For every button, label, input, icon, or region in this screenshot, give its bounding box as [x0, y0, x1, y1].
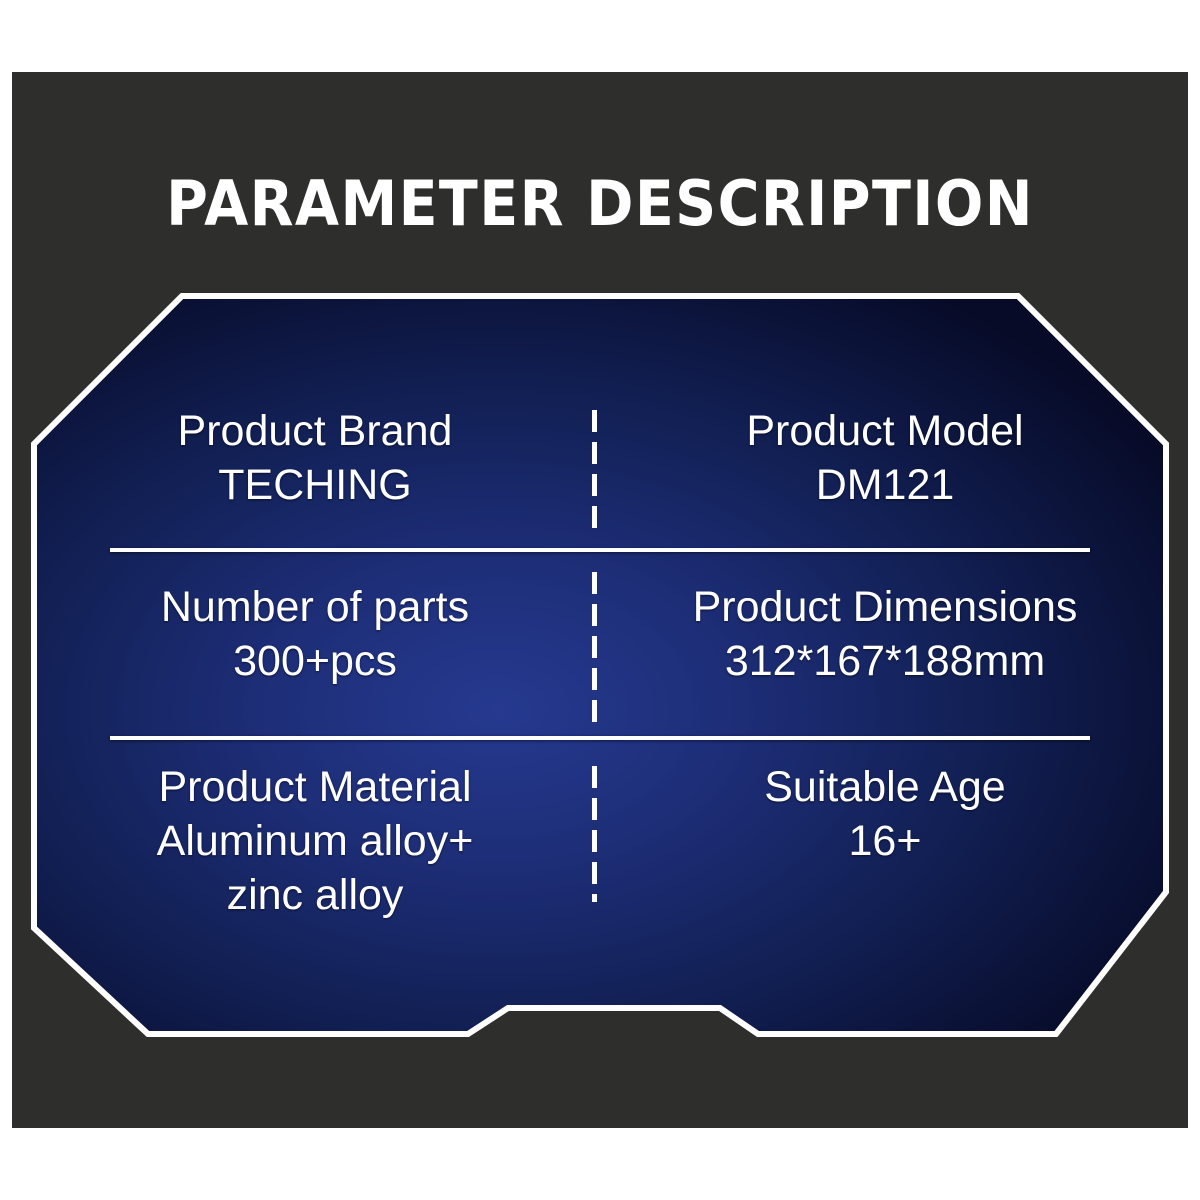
spec-value: DM121 [816, 458, 955, 512]
spec-content: Product Brand TECHING Product Model DM12… [30, 292, 1170, 1040]
spec-label: Product Model [746, 404, 1023, 458]
spec-value: 16+ [849, 814, 922, 868]
spec-label: Product Brand [178, 404, 453, 458]
spec-label: Suitable Age [764, 760, 1005, 814]
spec-cell-number-of-parts: Number of parts 300+pcs [30, 580, 600, 720]
spec-graphic: PARAMETER DESCRIPTION Product Brand [0, 0, 1200, 1200]
spec-label: Product Dimensions [693, 580, 1078, 634]
spec-cell-product-material: Product Material Aluminum alloy+ zinc al… [30, 760, 600, 950]
spec-label: Number of parts [161, 580, 469, 634]
spec-value: TECHING [218, 458, 412, 512]
row-separator-2 [110, 736, 1090, 740]
spec-cell-suitable-age: Suitable Age 16+ [600, 760, 1170, 950]
spec-cell-product-brand: Product Brand TECHING [30, 404, 600, 544]
spec-value: Aluminum alloy+ zinc alloy [157, 814, 474, 922]
spec-row-1: Product Brand TECHING Product Model DM12… [30, 404, 1170, 544]
spec-cell-product-dimensions: Product Dimensions 312*167*188mm [600, 580, 1170, 720]
row-separator-1 [110, 548, 1090, 552]
spec-row-2: Number of parts 300+pcs Product Dimensio… [30, 580, 1170, 720]
spec-cell-product-model: Product Model DM121 [600, 404, 1170, 544]
spec-value: 312*167*188mm [725, 634, 1045, 688]
spec-row-3: Product Material Aluminum alloy+ zinc al… [30, 760, 1170, 950]
spec-value: 300+pcs [233, 634, 397, 688]
spec-label: Product Material [158, 760, 471, 814]
page-title: PARAMETER DESCRIPTION [48, 168, 1152, 240]
